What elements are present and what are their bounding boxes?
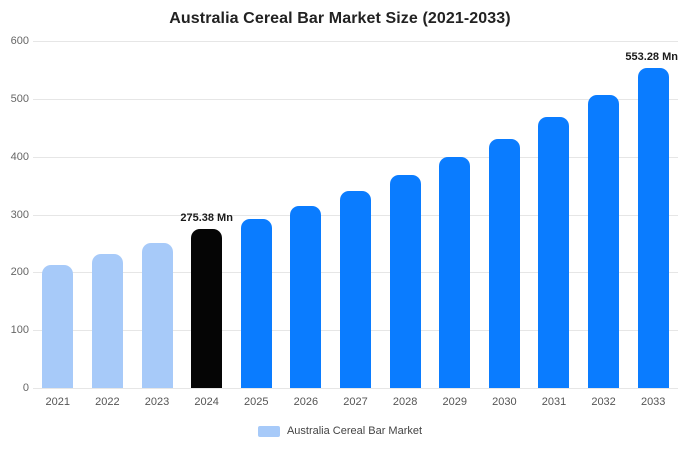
x-axis-tick-label-2033: 2033 — [641, 396, 665, 408]
x-axis-tick-label-2022: 2022 — [95, 396, 119, 408]
x-axis-tick-label-2021: 2021 — [46, 396, 70, 408]
x-axis-tick-label-2031: 2031 — [542, 396, 566, 408]
bar-value-label-2033: 553.28 Mn — [625, 51, 678, 63]
bar-2027[interactable] — [340, 191, 371, 388]
y-axis-tick-label: 0 — [3, 382, 29, 394]
bar-2023[interactable] — [142, 243, 173, 388]
bar-2024[interactable] — [191, 229, 222, 388]
bar-2029[interactable] — [439, 157, 470, 388]
bar-2032[interactable] — [588, 95, 619, 388]
x-axis-tick-label-2028: 2028 — [393, 396, 417, 408]
plot-area — [33, 41, 678, 388]
gridline — [33, 157, 678, 158]
bar-2028[interactable] — [390, 175, 421, 388]
x-axis-tick-label-2026: 2026 — [294, 396, 318, 408]
x-axis-tick-label-2030: 2030 — [492, 396, 516, 408]
y-axis-tick-label: 200 — [3, 266, 29, 278]
bar-2022[interactable] — [92, 254, 123, 388]
bar-2026[interactable] — [290, 206, 321, 388]
bar-2031[interactable] — [538, 117, 569, 388]
gridline — [33, 41, 678, 42]
gridline — [33, 388, 678, 389]
gridline — [33, 99, 678, 100]
chart-title: Australia Cereal Bar Market Size (2021-2… — [0, 10, 680, 28]
y-axis-tick-label: 300 — [3, 209, 29, 221]
x-axis-tick-label-2025: 2025 — [244, 396, 268, 408]
y-axis-tick-label: 600 — [3, 35, 29, 47]
x-axis-tick-label-2032: 2032 — [591, 396, 615, 408]
chart-container: Australia Cereal Bar Market Size (2021-2… — [0, 0, 680, 450]
x-axis-tick-label-2027: 2027 — [343, 396, 367, 408]
chart-legend: Australia Cereal Bar Market — [0, 425, 680, 437]
bar-value-label-2024: 275.38 Mn — [180, 212, 233, 224]
legend-label-australia-cereal-bar-market: Australia Cereal Bar Market — [287, 425, 422, 437]
y-axis-tick-labels: 0100200300400500600 — [0, 41, 29, 388]
legend-swatch-australia-cereal-bar-market — [258, 426, 280, 437]
bar-2025[interactable] — [241, 219, 272, 388]
y-axis-tick-label: 100 — [3, 324, 29, 336]
bar-2021[interactable] — [42, 265, 73, 388]
bar-2033[interactable] — [638, 68, 669, 388]
x-axis-tick-label-2024: 2024 — [194, 396, 218, 408]
bar-2030[interactable] — [489, 139, 520, 388]
x-axis-tick-label-2023: 2023 — [145, 396, 169, 408]
x-axis-tick-label-2029: 2029 — [442, 396, 466, 408]
y-axis-tick-label: 500 — [3, 93, 29, 105]
y-axis-tick-label: 400 — [3, 151, 29, 163]
